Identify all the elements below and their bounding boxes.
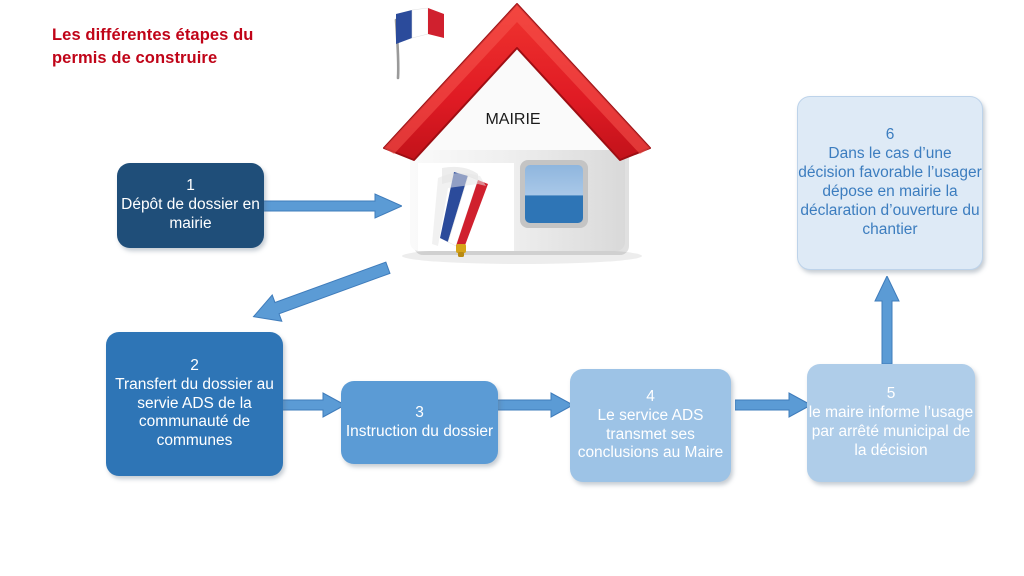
page-title-line-2: permis de construire — [52, 49, 217, 67]
house-window — [520, 160, 588, 228]
step-5-text: le maire informe l’usage par arrêté muni… — [807, 404, 975, 461]
process-step-3[interactable]: 3 Instruction du dossier — [341, 381, 498, 464]
process-step-5[interactable]: 5 le maire informe l’usage par arrêté mu… — [807, 364, 975, 482]
arrow-step4-to-step5 — [735, 392, 811, 418]
step-3-number: 3 — [415, 404, 424, 423]
process-step-6[interactable]: 6 Dans le cas d’une décision favorable l… — [797, 96, 983, 270]
page-title-line-1: Les différentes étapes du — [52, 26, 253, 44]
french-flag-icon — [396, 8, 444, 78]
step-6-text: Dans le cas d’une décision favorable l’u… — [798, 145, 982, 240]
step-2-number: 2 — [190, 357, 199, 376]
process-step-1[interactable]: 1 Dépôt de dossier en mairie — [117, 163, 264, 248]
arrow-step1-to-mairie — [262, 192, 402, 220]
sash-tassel — [456, 244, 466, 253]
step-2-text: Transfert du dossier au servie ADS de la… — [106, 376, 283, 452]
arrow-step2-to-step3 — [281, 392, 345, 418]
mairie-house-graphic — [372, 0, 654, 268]
step-4-text: Le service ADS transmet ses conclusions … — [570, 407, 731, 464]
step-3-text: Instruction du dossier — [346, 423, 493, 442]
process-step-4[interactable]: 4 Le service ADS transmet ses conclusion… — [570, 369, 731, 482]
process-step-2[interactable]: 2 Transfert du dossier au servie ADS de … — [106, 332, 283, 476]
step-4-number: 4 — [646, 388, 655, 407]
step-5-number: 5 — [887, 385, 896, 404]
step-1-number: 1 — [186, 177, 195, 196]
tricolor-sash-panel — [418, 163, 514, 257]
arrow-step5-to-step6 — [873, 276, 901, 364]
arrow-step3-to-step4 — [497, 392, 573, 418]
step-1-text: Dépôt de dossier en mairie — [117, 196, 264, 234]
step-6-number: 6 — [886, 126, 895, 145]
mairie-illustration: MAIRIE — [372, 0, 654, 268]
page-title: Les différentes étapes du permis de cons… — [52, 24, 352, 70]
arrow-mairie-to-step2 — [248, 252, 400, 330]
